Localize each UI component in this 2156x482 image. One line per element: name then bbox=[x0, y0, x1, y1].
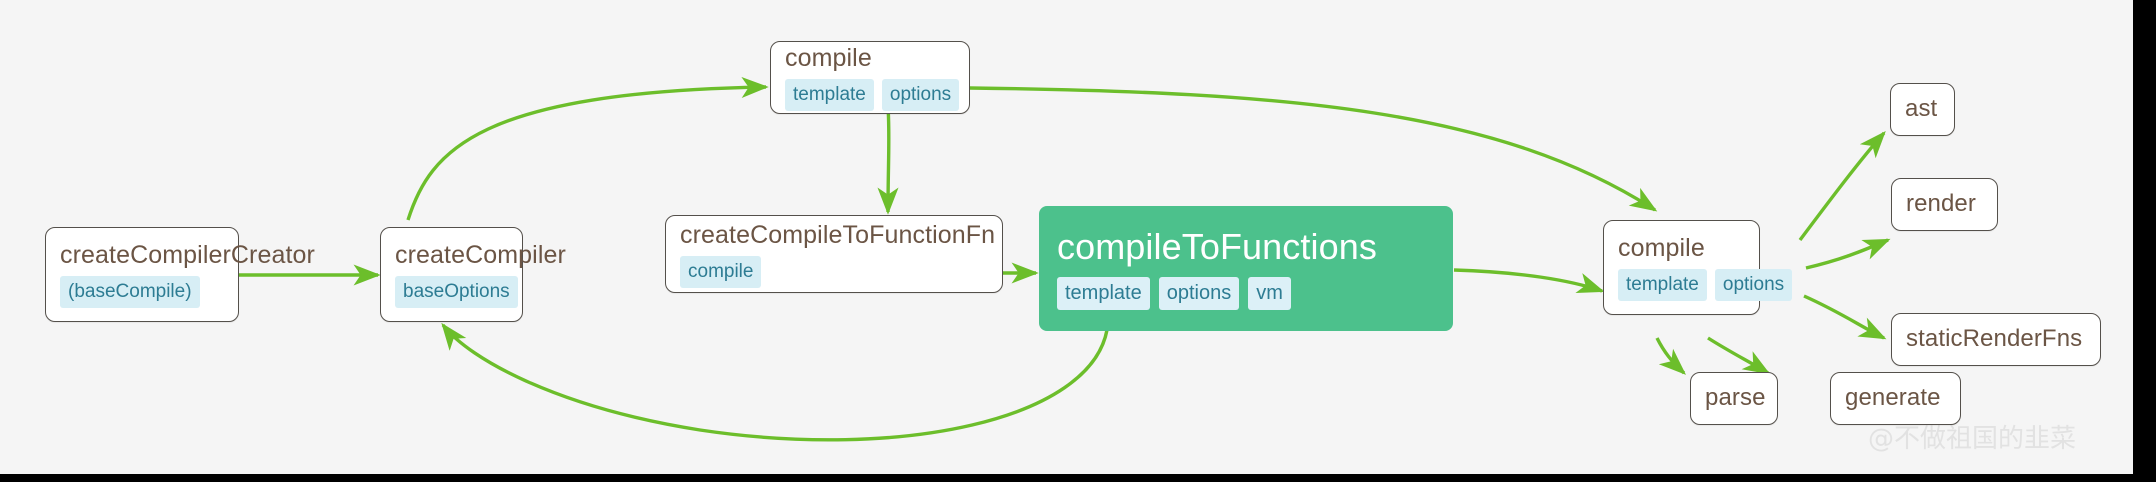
node-title: createCompilerCreator bbox=[46, 241, 238, 269]
node-title: createCompiler bbox=[381, 241, 522, 269]
node-tags: compile bbox=[666, 249, 1002, 288]
tag-vm: vm bbox=[1248, 277, 1291, 310]
edge-compileTop-createCompileToFunctionFn bbox=[888, 107, 889, 212]
node-title: compileToFunctions bbox=[1039, 227, 1453, 267]
node-generate[interactable]: generate bbox=[1830, 372, 1961, 425]
node-createCompileToFunctionFn[interactable]: createCompileToFunctionFn compile bbox=[665, 215, 1003, 293]
node-title: render bbox=[1892, 191, 1997, 218]
edge-compileRight-staticRenderFns bbox=[1804, 296, 1884, 338]
tag-options: options bbox=[1715, 269, 1792, 301]
node-tags: baseOptions bbox=[381, 269, 522, 308]
node-createCompilerCreator[interactable]: createCompilerCreator (baseCompile) bbox=[45, 227, 239, 322]
bottom-black-strip bbox=[0, 474, 2156, 482]
tag-template: template bbox=[785, 79, 874, 111]
node-title: generate bbox=[1831, 385, 1960, 412]
node-compile-right[interactable]: compile template options bbox=[1603, 220, 1760, 315]
tag-options: options bbox=[882, 79, 959, 111]
node-tags: (baseCompile) bbox=[46, 269, 238, 308]
edge-compileRight-ast bbox=[1800, 133, 1884, 240]
edge-compileToFunctions-compileRight bbox=[1454, 270, 1602, 291]
node-parse[interactable]: parse bbox=[1690, 372, 1778, 425]
edge-compileRight-parse bbox=[1657, 338, 1684, 373]
node-title: parse bbox=[1691, 385, 1777, 412]
node-staticRenderFns[interactable]: staticRenderFns bbox=[1891, 313, 2101, 366]
edge-compileRight-render bbox=[1806, 240, 1888, 268]
node-ast[interactable]: ast bbox=[1890, 83, 1955, 136]
node-tags: template options bbox=[771, 72, 969, 111]
node-createCompiler[interactable]: createCompiler baseOptions bbox=[380, 227, 523, 322]
edge-compileTop-compileRight bbox=[970, 88, 1655, 210]
tag-options: options bbox=[1159, 277, 1240, 310]
tag-baseOptions: baseOptions bbox=[395, 276, 518, 308]
node-title: staticRenderFns bbox=[1892, 326, 2100, 353]
diagram-canvas: createCompilerCreator (baseCompile) crea… bbox=[0, 0, 2156, 482]
node-title: createCompileToFunctionFn bbox=[666, 221, 1002, 249]
tag-template: template bbox=[1057, 277, 1150, 310]
node-compile-top[interactable]: compile template options bbox=[770, 41, 970, 114]
node-compileToFunctions[interactable]: compileToFunctions template options vm bbox=[1039, 206, 1453, 331]
tag-template: template bbox=[1618, 269, 1707, 301]
node-title: ast bbox=[1891, 96, 1954, 123]
tag-baseCompile: (baseCompile) bbox=[60, 276, 200, 308]
right-black-strip bbox=[2133, 0, 2156, 482]
edge-createCompiler-compileToFunctions bbox=[443, 325, 1107, 440]
tag-compile: compile bbox=[680, 256, 761, 288]
node-tags: template options vm bbox=[1039, 268, 1453, 310]
node-tags: template options bbox=[1604, 262, 1759, 301]
edge-createCompiler-compileTop bbox=[408, 87, 766, 220]
node-title: compile bbox=[771, 44, 969, 72]
node-render[interactable]: render bbox=[1891, 178, 1998, 231]
edge-compileRight-generate bbox=[1708, 338, 1768, 373]
node-title: compile bbox=[1604, 234, 1759, 262]
